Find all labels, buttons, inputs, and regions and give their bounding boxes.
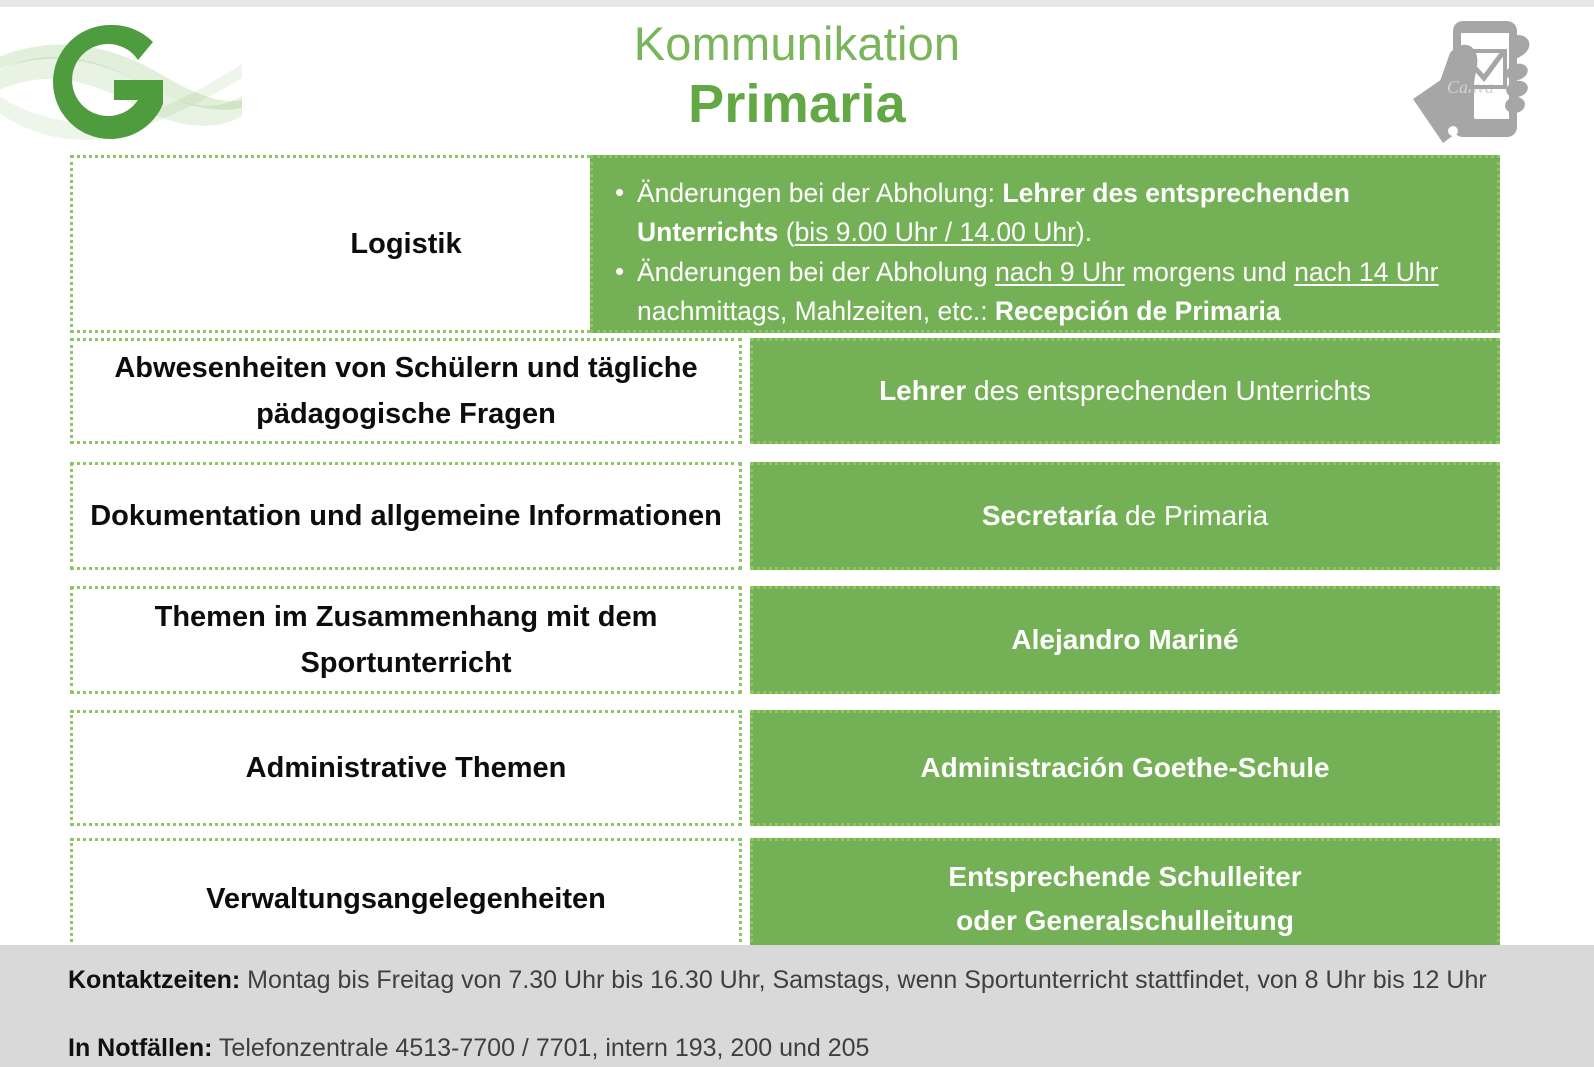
footer-label-notfaelle: In Notfällen: — [68, 1034, 212, 1062]
footer-text-notfaelle: Telefonzentrale 4513-7700 / 7701, intern… — [212, 1034, 869, 1062]
contact-cell-logistik: Änderungen bei der Abholung: Lehrer des … — [590, 155, 1500, 333]
topic-cell-administrative: Administrative Themen — [70, 710, 742, 826]
table-row: Verwaltungsangelegenheiten Entsprechende… — [0, 838, 1594, 962]
topic-label: Verwaltungsangelegenheiten — [192, 876, 620, 922]
table-row: Themen im Zusammenhang mit dem Sportunte… — [0, 586, 1594, 696]
logistik-bullet-list: Änderungen bei der Abholung: Lehrer des … — [611, 174, 1479, 331]
topic-label: Administrative Themen — [232, 745, 581, 791]
contact-cell-verwaltung: Entsprechende Schulleiteroder Generalsch… — [750, 838, 1500, 960]
contact-label: Entsprechende Schulleiteroder Generalsch… — [934, 855, 1315, 943]
footer-label-kontaktzeiten: Kontaktzeiten: — [68, 966, 240, 994]
topic-cell-sport: Themen im Zusammenhang mit dem Sportunte… — [70, 586, 742, 694]
table-row: Logistik Änderungen bei der Abholung: Le… — [0, 155, 1594, 335]
page-title-line2: Primaria — [397, 73, 1197, 135]
title-block: Kommunikation Primaria — [397, 15, 1197, 135]
communication-matrix: Logistik Änderungen bei der Abholung: Le… — [0, 155, 1594, 945]
hand-holding-phone-checkmark-icon: Canva — [1405, 15, 1540, 163]
table-row: Dokumentation und allgemeine Information… — [0, 462, 1594, 572]
list-item: Änderungen bei der Abholung: Lehrer des … — [637, 174, 1479, 252]
topic-label: Themen im Zusammenhang mit dem Sportunte… — [73, 594, 739, 686]
footer-line-kontaktzeiten: Kontaktzeiten: Montag bis Freitag von 7.… — [68, 963, 1528, 997]
page-header: Kommunikation Primaria Canva — [0, 7, 1594, 155]
contact-cell-administrative: Administración Goethe-Schule — [750, 710, 1500, 826]
contact-label: Administración Goethe-Schule — [906, 746, 1343, 790]
contact-label: Alejandro Mariné — [997, 618, 1252, 662]
page-title-line1: Kommunikation — [397, 15, 1197, 73]
contact-label: Secretaría de Primaria — [968, 494, 1282, 538]
contact-cell-abwesenheiten: Lehrer des entsprechenden Unterrichts — [750, 338, 1500, 444]
contact-label: Lehrer des entsprechenden Unterrichts — [865, 369, 1385, 413]
table-row: Administrative Themen Administración Goe… — [0, 710, 1594, 828]
top-strip — [0, 0, 1594, 7]
goethe-schule-g-logo — [0, 12, 242, 162]
footer-line-notfaelle: In Notfällen: Telefonzentrale 4513-7700 … — [68, 1031, 1528, 1065]
table-row: Abwesenheiten von Schülern und tägliche … — [0, 338, 1594, 446]
contact-cell-sport: Alejandro Mariné — [750, 586, 1500, 694]
topic-label: Logistik — [336, 221, 475, 267]
topic-label: Abwesenheiten von Schülern und tägliche … — [73, 345, 739, 437]
contact-cell-dokumentation: Secretaría de Primaria — [750, 462, 1500, 570]
topic-cell-dokumentation: Dokumentation und allgemeine Information… — [70, 462, 742, 570]
list-item: Änderungen bei der Abholung nach 9 Uhr m… — [637, 253, 1479, 331]
footer-contact-info: Kontaktzeiten: Montag bis Freitag von 7.… — [0, 945, 1594, 1067]
footer-text-kontaktzeiten: Montag bis Freitag von 7.30 Uhr bis 16.3… — [240, 966, 1486, 994]
topic-label: Dokumentation und allgemeine Information… — [76, 493, 736, 539]
topic-cell-verwaltung: Verwaltungsangelegenheiten — [70, 838, 742, 960]
topic-cell-abwesenheiten: Abwesenheiten von Schülern und tägliche … — [70, 338, 742, 444]
